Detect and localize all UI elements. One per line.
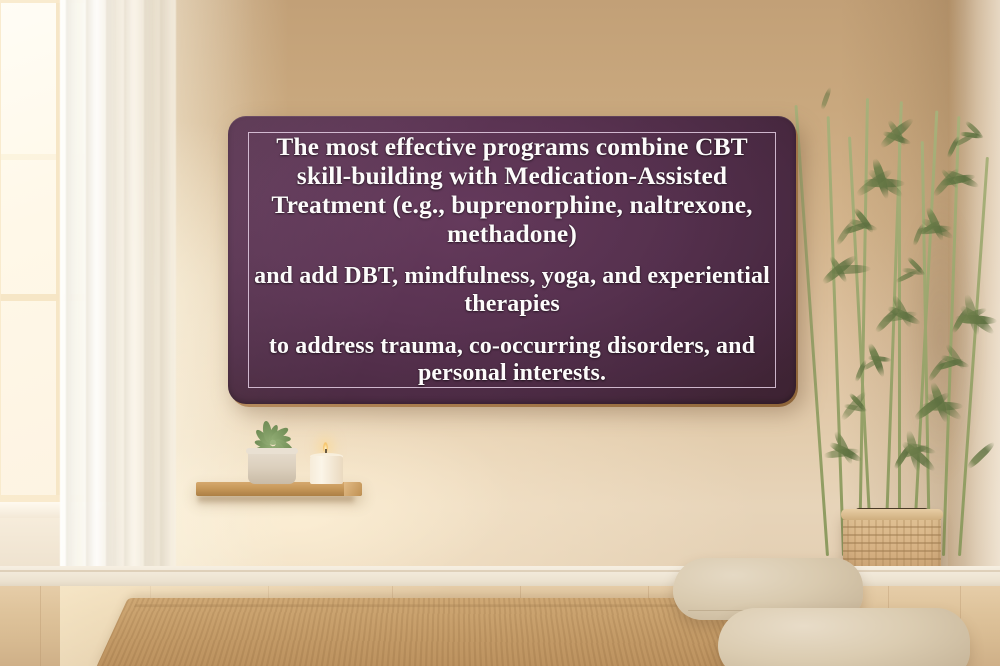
basket-weave [843, 542, 941, 544]
shelf-end-cap [344, 482, 362, 496]
plant-pot-rim [246, 448, 298, 454]
basket-weave [843, 526, 941, 528]
curtain-fold [144, 0, 160, 608]
bamboo-leaf [927, 355, 950, 383]
curtain-fold [106, 0, 122, 608]
curtain-fold [160, 0, 176, 608]
basket-rim [841, 509, 943, 520]
basket-weave [843, 534, 941, 536]
room-scene: The most effective programs combine CBT … [0, 0, 1000, 666]
plaque-paragraph-2: and add DBT, mindfulness, yoga, and expe… [254, 263, 770, 318]
pillar-candle [310, 456, 343, 484]
floor-plank-seam [40, 586, 41, 666]
basket-weave [843, 558, 941, 560]
floor-cushion-front [718, 608, 970, 666]
plant-pot [248, 450, 296, 484]
bamboo-plant [812, 96, 998, 556]
floating-shelf [196, 482, 362, 496]
bamboo-stalk [827, 116, 845, 556]
plaque-text-block: The most effective programs combine CBT … [254, 136, 770, 384]
bamboo-leaf [965, 440, 996, 470]
curtain-fold [124, 0, 140, 608]
curtain-fold [66, 0, 82, 608]
wall-plaque[interactable]: The most effective programs combine CBT … [228, 116, 796, 404]
curtain-fold [86, 0, 102, 608]
plaque-paragraph-1: The most effective programs combine CBT … [254, 132, 770, 248]
bamboo-stalk [958, 157, 989, 556]
sheer-curtain [60, 0, 176, 608]
basket-weave [843, 550, 941, 552]
plaque-paragraph-3: to address trauma, co-occurring disorder… [254, 333, 770, 388]
shelf-shadow [198, 496, 354, 505]
